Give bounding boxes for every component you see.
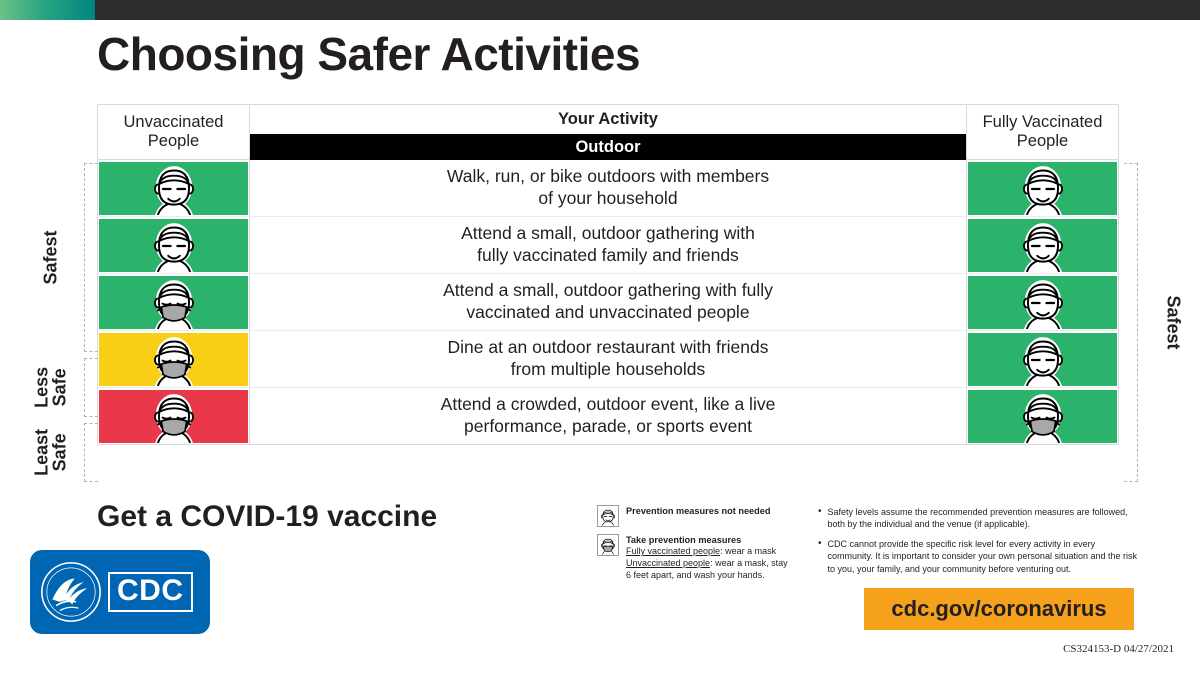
column-header-unvaccinated: Unvaccinated People	[97, 104, 250, 160]
risk-swatch-vaccinated	[968, 219, 1117, 272]
table-row: Attend a crowded, outdoor event, like a …	[97, 388, 1119, 445]
masked-face-icon	[1014, 391, 1072, 443]
legend-text: Prevention measures not needed	[626, 505, 771, 527]
column-header-activity-label: Your Activity	[250, 105, 966, 134]
activity-line2: from multiple households	[447, 359, 768, 381]
footnote-text: CDC cannot provide the specific risk lev…	[828, 538, 1140, 575]
column-header-fully-vaccinated: Fully Vaccinated People	[966, 104, 1119, 160]
activity-line2: vaccinated and unvaccinated people	[443, 302, 773, 324]
column-header-fully-vaccinated-line1: Fully Vaccinated	[983, 113, 1103, 132]
cell-unvaccinated-1	[97, 217, 250, 273]
risk-scale-group: Less Safe	[18, 355, 98, 420]
risk-swatch-unvaccinated	[99, 333, 248, 386]
activity-line1: Dine at an outdoor restaurant with frien…	[447, 337, 768, 359]
scale-bracket	[84, 423, 98, 482]
risk-swatch-unvaccinated	[99, 162, 248, 215]
cell-fully-vaccinated-4	[966, 388, 1119, 444]
masked-face-icon	[598, 536, 618, 555]
legend-underline: Fully vaccinated people	[626, 546, 720, 556]
legend-item: Take prevention measuresFully vaccinated…	[597, 534, 802, 582]
table-row: Attend a small, outdoor gathering withfu…	[97, 217, 1119, 274]
footnote-item: •CDC cannot provide the specific risk le…	[818, 538, 1140, 575]
footnote-item: •Safety levels assume the recommended pr…	[818, 506, 1140, 531]
risk-scale-right: Safest	[1124, 160, 1194, 485]
unmasked-face-icon	[598, 507, 618, 526]
risk-swatch-unvaccinated	[99, 390, 248, 443]
risk-swatch-unvaccinated	[99, 276, 248, 329]
cell-fully-vaccinated-0	[966, 160, 1119, 216]
column-header-unvaccinated-line1: Unvaccinated	[124, 113, 224, 132]
legend-swatch	[597, 505, 619, 527]
cell-fully-vaccinated-1	[966, 217, 1119, 273]
legend-text: Take prevention measuresFully vaccinated…	[626, 534, 788, 582]
activity-line1: Walk, run, or bike outdoors with members	[447, 166, 769, 188]
column-header-unvaccinated-line2: People	[124, 132, 224, 151]
cell-unvaccinated-4	[97, 388, 250, 444]
hhs-seal-icon	[40, 561, 102, 623]
top-bar	[0, 0, 1200, 20]
cell-activity-4: Attend a crowded, outdoor event, like a …	[250, 388, 966, 444]
scale-bracket	[84, 358, 98, 417]
scale-label: Safest	[1163, 295, 1184, 349]
publication-id: CS324153-D 04/27/2021	[0, 643, 1174, 655]
masked-face-icon	[145, 334, 203, 386]
unmasked-face-icon	[145, 163, 203, 215]
risk-swatch-vaccinated	[968, 390, 1117, 443]
url-banner[interactable]: cdc.gov/coronavirus	[864, 588, 1134, 630]
legend-detail-line: 6 feet apart, and wash your hands.	[626, 570, 788, 582]
activity-line1: Attend a crowded, outdoor event, like a …	[441, 394, 776, 416]
cell-fully-vaccinated-3	[966, 331, 1119, 387]
unmasked-face-icon	[1014, 277, 1072, 329]
masked-face-icon	[145, 391, 203, 443]
legend-item: Prevention measures not needed	[597, 505, 802, 527]
activity-line2: of your household	[447, 188, 769, 210]
cdc-wordmark: CDC	[108, 572, 193, 612]
column-header-activity: Your Activity Outdoor	[250, 104, 966, 160]
column-header-fully-vaccinated-line2: People	[983, 132, 1103, 151]
activity-line2: performance, parade, or sports event	[441, 416, 776, 438]
section-banner-outdoor: Outdoor	[250, 134, 966, 160]
legend-title: Prevention measures not needed	[626, 505, 771, 517]
scale-label: Least Safe	[33, 426, 70, 480]
masked-face-icon	[145, 277, 203, 329]
risk-scale-group: Safest	[1124, 160, 1194, 485]
risk-swatch-vaccinated	[968, 276, 1117, 329]
cell-activity-1: Attend a small, outdoor gathering withfu…	[250, 217, 966, 273]
unmasked-face-icon	[1014, 334, 1072, 386]
bullet-icon: •	[818, 506, 822, 531]
risk-scale-group: Least Safe	[18, 420, 98, 485]
scale-bracket	[1124, 163, 1138, 482]
legend-underline: Unvaccinated people	[626, 558, 710, 568]
table-row: Dine at an outdoor restaurant with frien…	[97, 331, 1119, 388]
cell-unvaccinated-3	[97, 331, 250, 387]
legend-title: Take prevention measures	[626, 534, 788, 546]
cell-activity-0: Walk, run, or bike outdoors with members…	[250, 160, 966, 216]
table-row: Walk, run, or bike outdoors with members…	[97, 160, 1119, 217]
unmasked-face-icon	[145, 220, 203, 272]
legend-detail-line: Unvaccinated people: wear a mask, stay	[626, 558, 788, 570]
legend-detail-line: Fully vaccinated people: wear a mask	[626, 546, 788, 558]
scale-bracket	[84, 163, 98, 352]
scale-label: Safest	[40, 230, 61, 284]
legend-swatch	[597, 534, 619, 556]
risk-swatch-vaccinated	[968, 162, 1117, 215]
risk-scale-left: SafestLess SafeLeast Safe	[18, 160, 98, 485]
risk-swatch-vaccinated	[968, 333, 1117, 386]
activity-line2: fully vaccinated family and friends	[461, 245, 755, 267]
cdc-logo: CDC	[30, 550, 210, 634]
table-header-row: Unvaccinated People Your Activity Outdoo…	[97, 104, 1119, 160]
cell-activity-3: Dine at an outdoor restaurant with frien…	[250, 331, 966, 387]
risk-scale-group: Safest	[18, 160, 98, 355]
cell-unvaccinated-2	[97, 274, 250, 330]
legend: Prevention measures not neededTake preve…	[597, 505, 802, 589]
cell-unvaccinated-0	[97, 160, 250, 216]
top-bar-gradient-accent	[0, 0, 95, 20]
table-row: Attend a small, outdoor gathering with f…	[97, 274, 1119, 331]
bullet-icon: •	[818, 538, 822, 575]
scale-label: Less Safe	[33, 361, 70, 415]
cell-fully-vaccinated-2	[966, 274, 1119, 330]
table-body: Walk, run, or bike outdoors with members…	[97, 160, 1119, 445]
activity-line1: Attend a small, outdoor gathering with	[461, 223, 755, 245]
activity-line1: Attend a small, outdoor gathering with f…	[443, 280, 773, 302]
activity-risk-table: Unvaccinated People Your Activity Outdoo…	[97, 104, 1119, 445]
cell-activity-2: Attend a small, outdoor gathering with f…	[250, 274, 966, 330]
unmasked-face-icon	[1014, 163, 1072, 215]
unmasked-face-icon	[1014, 220, 1072, 272]
top-bar-dark-band	[95, 0, 1200, 20]
page-title: Choosing Safer Activities	[97, 30, 640, 78]
footnotes: •Safety levels assume the recommended pr…	[818, 506, 1140, 582]
risk-swatch-unvaccinated	[99, 219, 248, 272]
footnote-text: Safety levels assume the recommended pre…	[828, 506, 1140, 531]
cta-get-vaccine: Get a COVID-19 vaccine	[97, 500, 437, 534]
